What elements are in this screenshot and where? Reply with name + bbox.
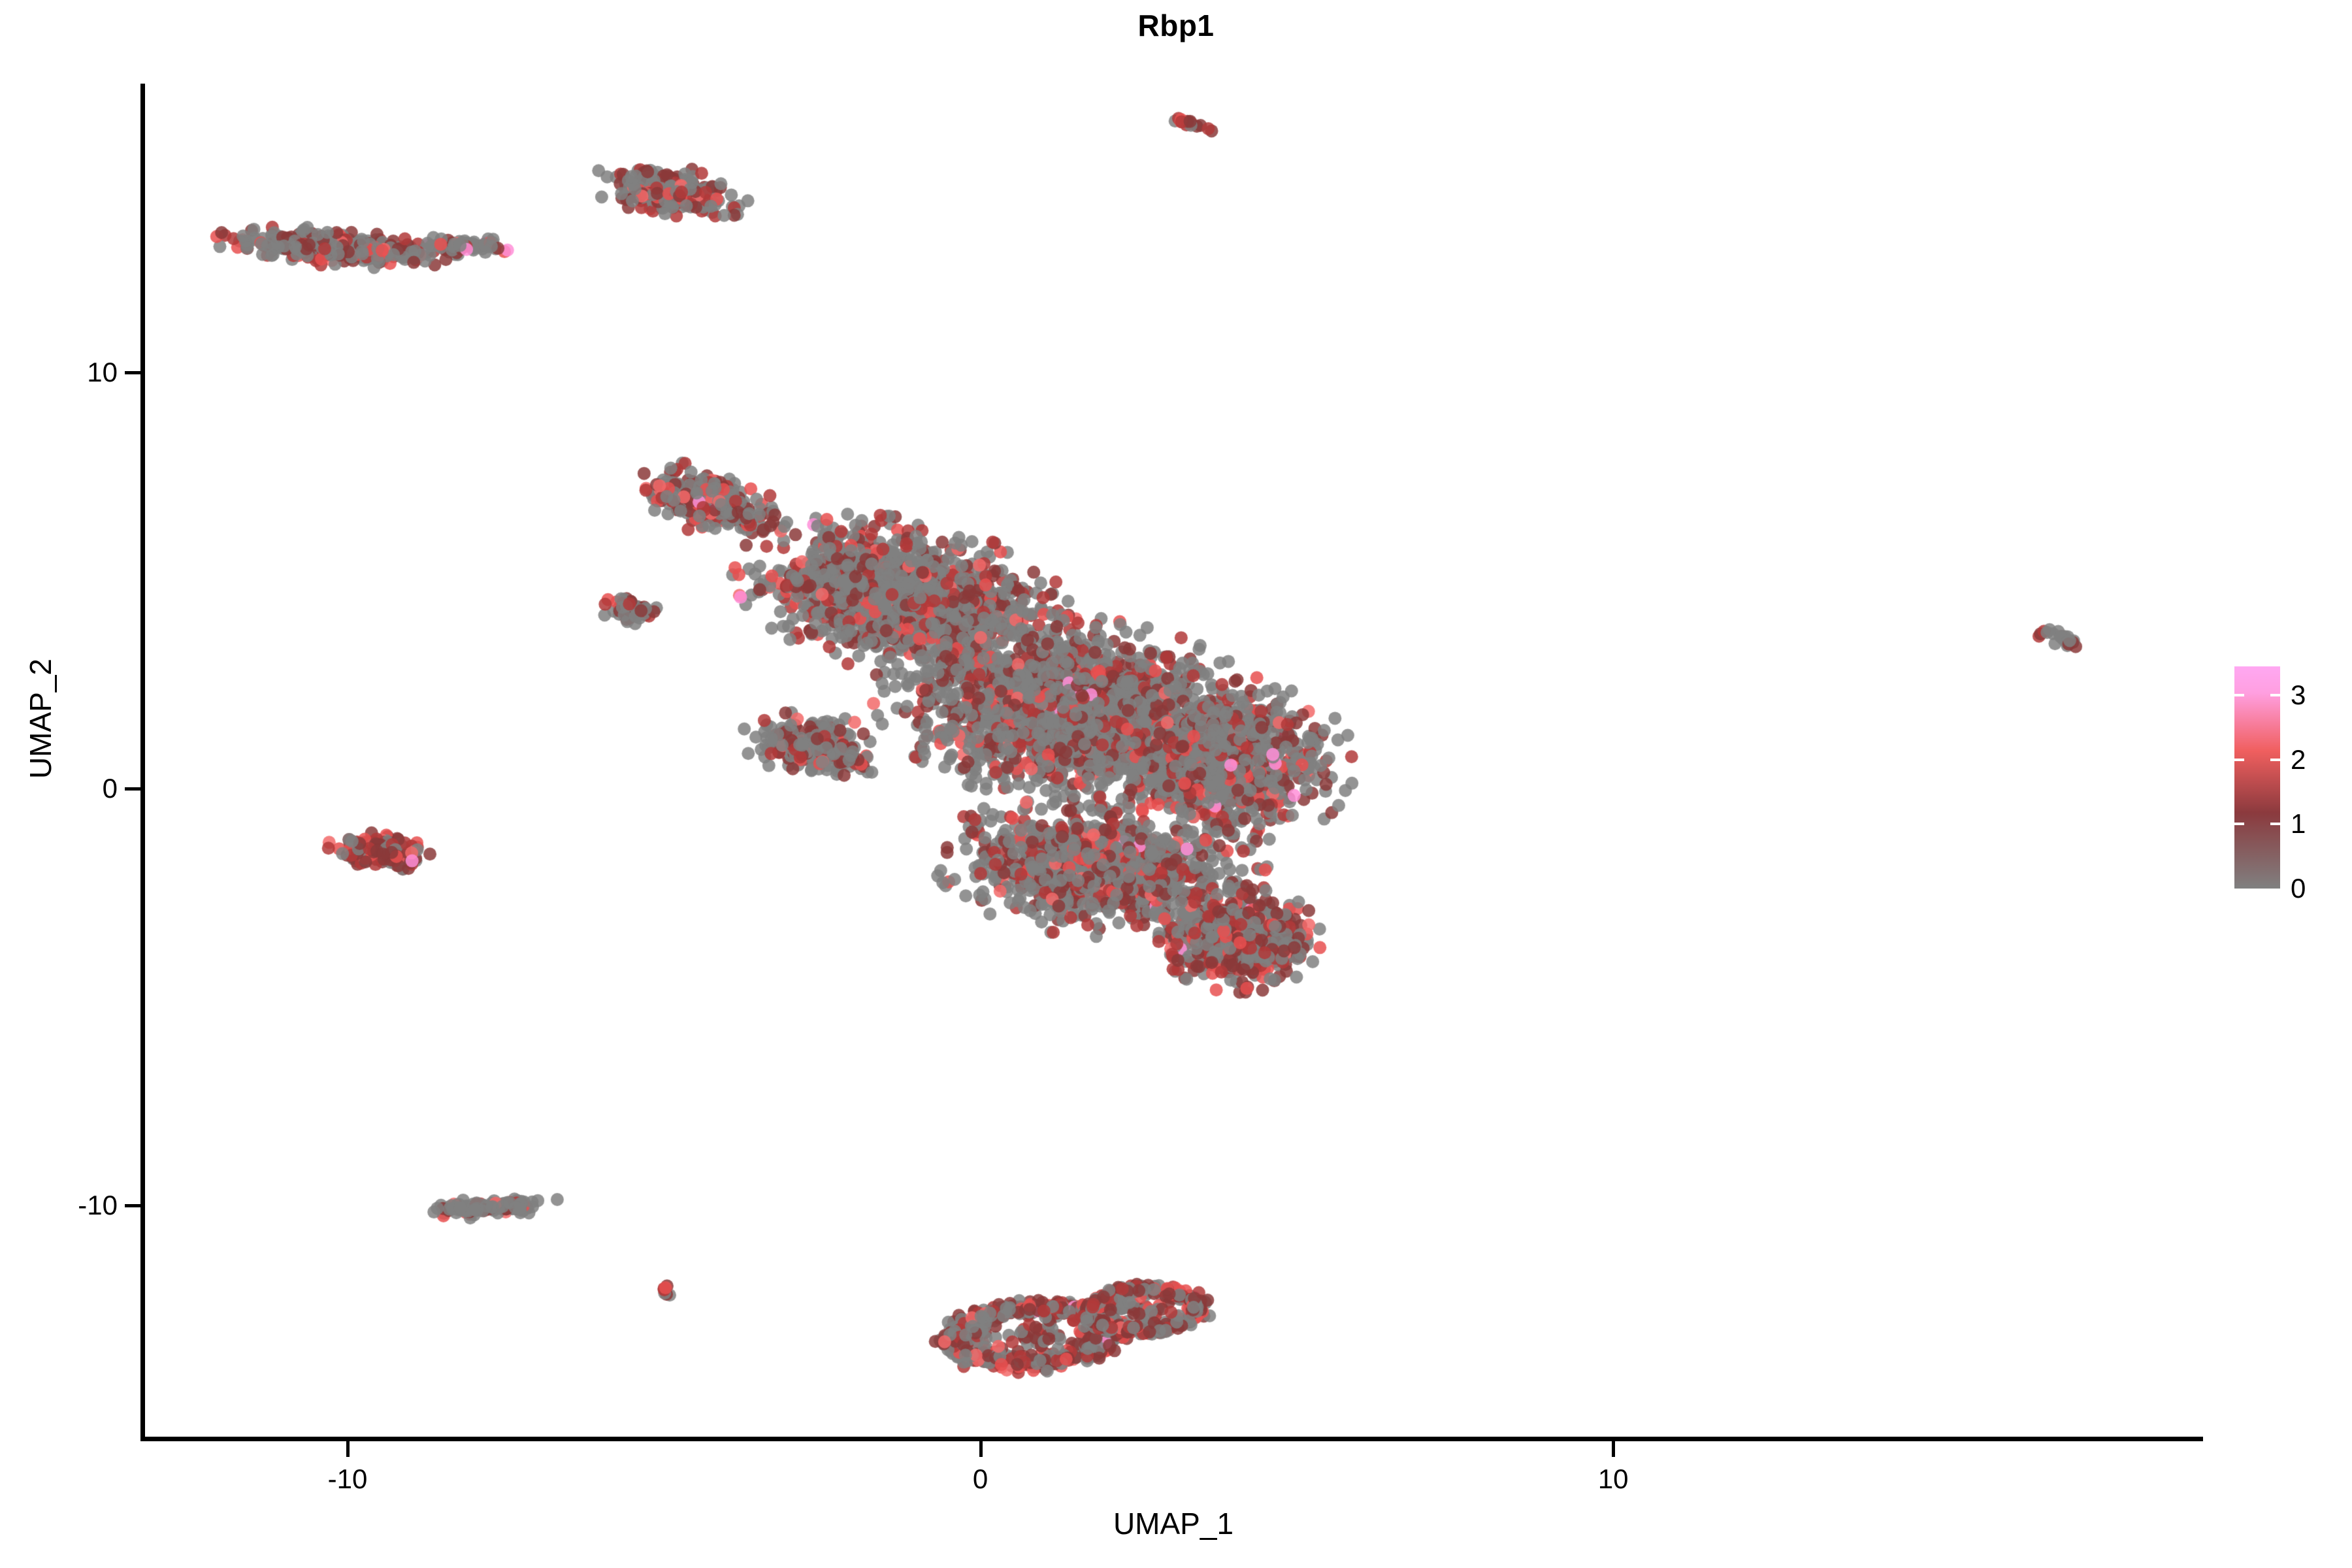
y-tick-label: 10 <box>26 357 118 388</box>
y-axis-title: UMAP_2 <box>23 523 58 915</box>
x-tick-label: -10 <box>328 1463 368 1495</box>
legend-label: 3 <box>2291 679 2306 711</box>
legend-label: 2 <box>2291 744 2306 776</box>
y-axis-line <box>140 84 145 1441</box>
x-axis-title: UMAP_1 <box>145 1506 2202 1541</box>
y-tick-mark <box>125 1204 140 1207</box>
x-tick-label: 0 <box>973 1463 988 1495</box>
y-tick-mark <box>125 787 140 791</box>
legend-label: 1 <box>2291 808 2306 840</box>
color-legend: 0123 <box>2234 666 2339 889</box>
x-tick-label: 10 <box>1598 1463 1629 1495</box>
plot-panel <box>145 85 2202 1439</box>
x-tick-mark <box>979 1441 983 1457</box>
y-tick-mark <box>125 371 140 374</box>
legend-colorbar <box>2234 666 2280 889</box>
page-title: Rbp1 <box>0 8 2352 43</box>
scatter-plot-canvas <box>145 85 2202 1439</box>
x-tick-mark <box>1612 1441 1615 1457</box>
x-tick-mark <box>346 1441 350 1457</box>
x-axis-line <box>140 1437 2203 1441</box>
legend-label: 0 <box>2291 873 2306 904</box>
y-tick-label: -10 <box>26 1190 118 1221</box>
umap-feature-plot: Rbp1 -10010 -10010 UMAP_1 UMAP_2 0123 <box>0 0 2352 1568</box>
